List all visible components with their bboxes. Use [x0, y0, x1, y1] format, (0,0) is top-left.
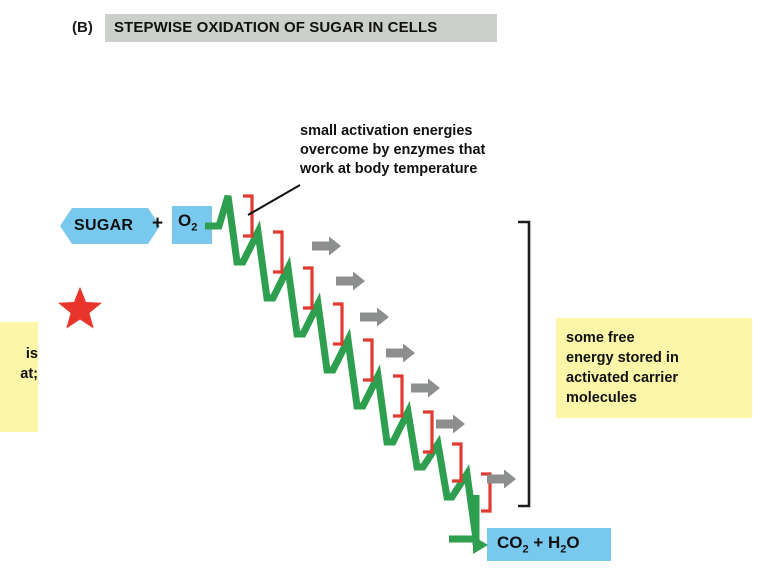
energy-arrow-icon-2 — [336, 272, 365, 291]
energy-release-arrows — [312, 237, 516, 489]
activation-bracket-7 — [423, 412, 432, 452]
red-star-icon — [57, 286, 103, 330]
energy-curve-path — [205, 196, 476, 539]
panel-letter: (B) — [72, 19, 93, 36]
diagram-root: (B) STEPWISE OXIDATION OF SUGAR IN CELLS… — [0, 0, 764, 568]
o2-text: O2 — [178, 211, 197, 233]
final-descent-segment — [474, 495, 476, 545]
co2-h2o-text: CO2 + H2O — [497, 533, 580, 555]
energy-arrow-icon-6 — [436, 415, 465, 434]
green-arrowhead-icon — [473, 536, 488, 554]
activation-bracket-8 — [452, 444, 461, 481]
activation-energy-brackets — [243, 196, 490, 511]
activation-bracket-3 — [303, 268, 312, 308]
clipped-note-line-2: at; — [0, 364, 38, 384]
activation-note-line-2: overcome by enzymes that — [300, 141, 485, 160]
energy-arrow-icon-3 — [360, 308, 389, 327]
activation-bracket-9 — [481, 474, 490, 511]
activation-bracket-2 — [273, 232, 282, 272]
bracket-and-leader — [248, 185, 529, 506]
energy-arrow-icon-7 — [487, 470, 516, 489]
clipped-note-line-1: is — [0, 344, 38, 364]
clipped-left-callout: isat; — [0, 322, 38, 432]
energy-arrow-icon-1 — [312, 237, 341, 256]
activation-bracket-1 — [243, 196, 252, 236]
activation-bracket-4 — [333, 304, 342, 344]
activation-note-line-3: work at body temperature — [300, 160, 485, 179]
plus-sign: + — [152, 213, 163, 235]
sugar-label-shape: SUGAR — [60, 208, 160, 244]
activation-bracket-6 — [393, 376, 402, 416]
free-energy-note-line-4: molecules — [566, 388, 752, 408]
energy-staircase-svg — [0, 0, 764, 568]
free-energy-callout: some freeenergy stored inactivated carri… — [556, 318, 752, 418]
free-energy-bracket — [518, 222, 529, 506]
free-energy-note-line-2: energy stored in — [566, 348, 752, 368]
annotation-leader-line — [248, 185, 300, 215]
sugar-text: SUGAR — [74, 217, 133, 235]
activation-note-line-1: small activation energies — [300, 122, 485, 141]
green-energy-curve — [205, 196, 488, 554]
free-energy-note-line-1: some free — [566, 328, 752, 348]
energy-arrow-icon-5 — [411, 379, 440, 398]
free-energy-note-line-3: activated carrier — [566, 368, 752, 388]
energy-arrow-icon-4 — [386, 344, 415, 363]
activation-bracket-5 — [363, 340, 372, 380]
activation-energy-note: small activation energiesovercome by enz… — [300, 122, 485, 179]
page-title: STEPWISE OXIDATION OF SUGAR IN CELLS — [114, 19, 437, 36]
